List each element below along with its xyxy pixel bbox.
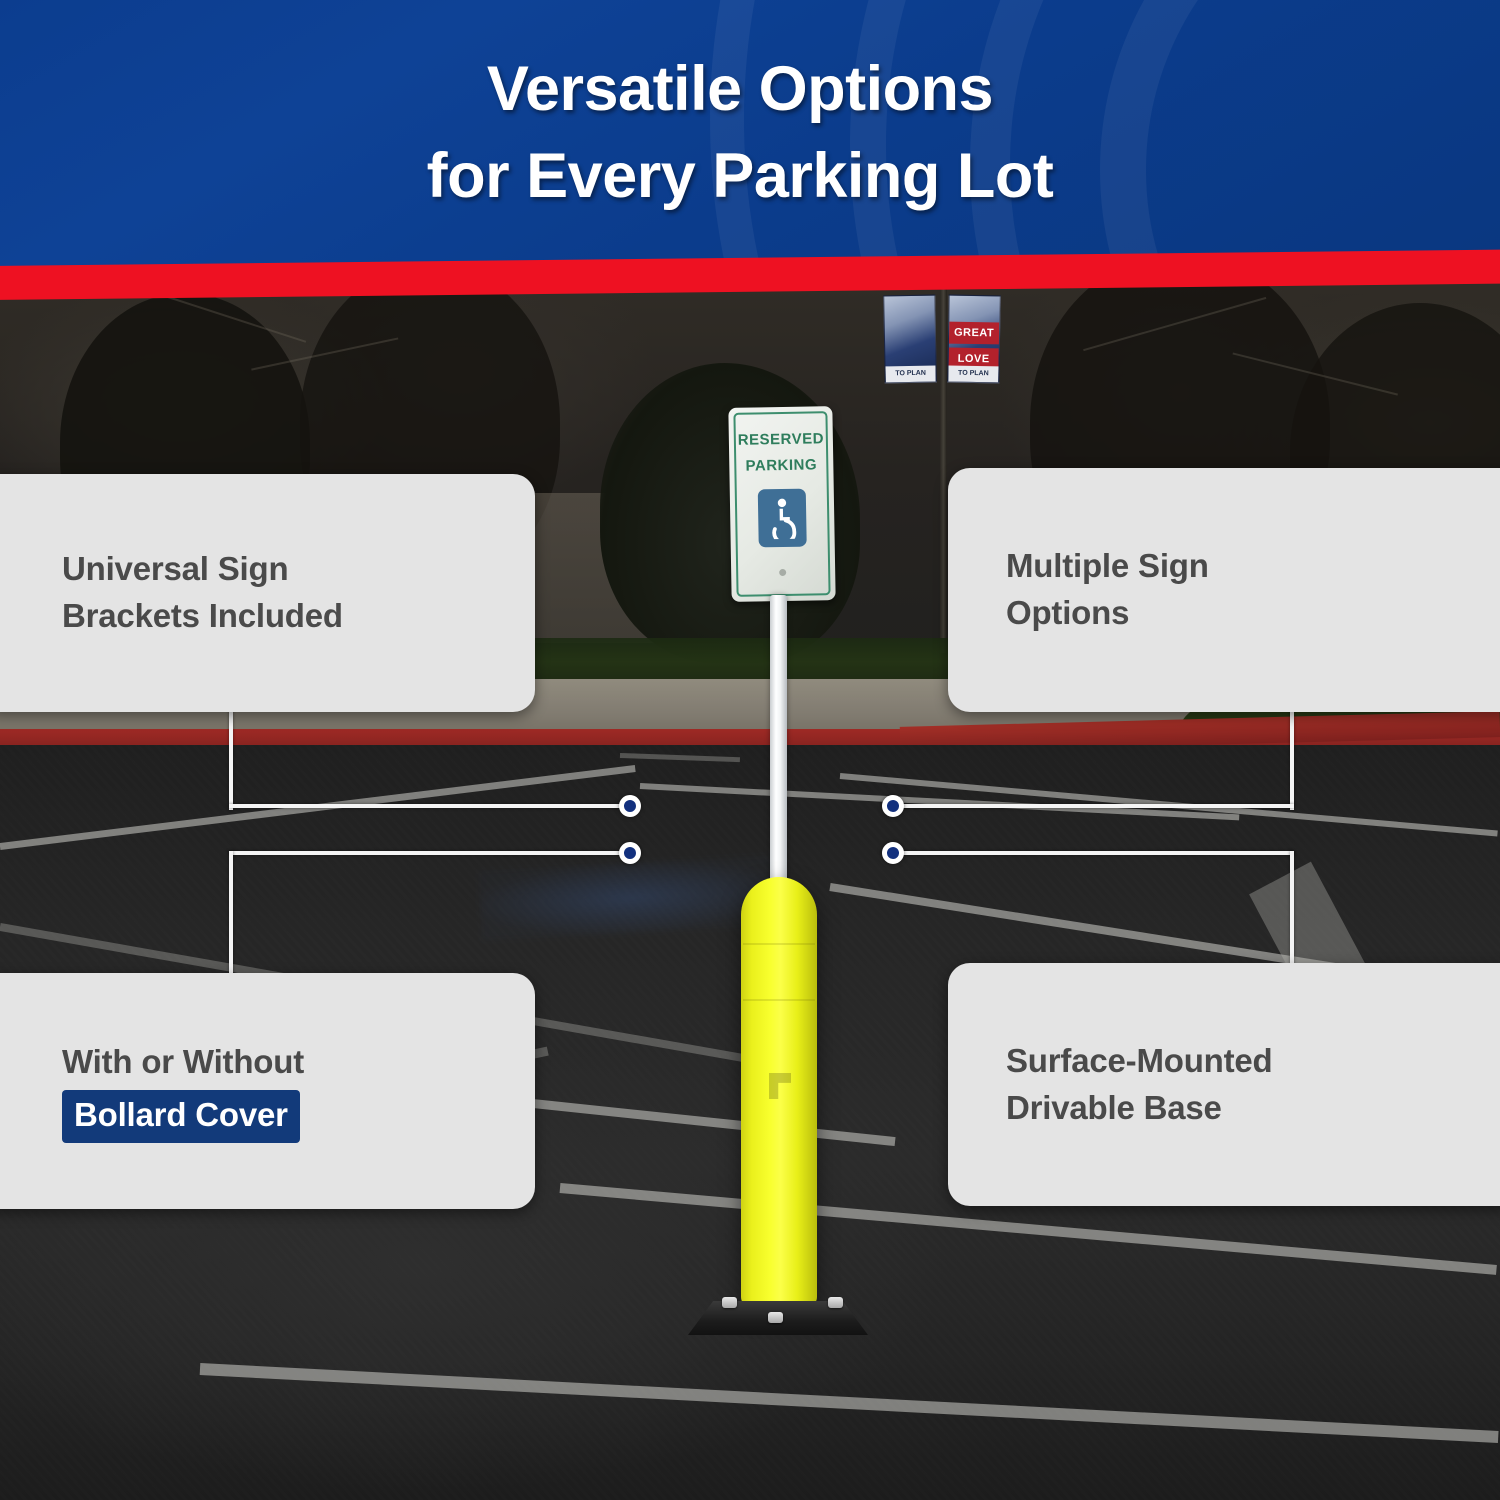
callout-line-2: Options bbox=[1006, 590, 1209, 637]
anchor-bolt bbox=[722, 1297, 737, 1308]
callout-text: Universal Sign Brackets Included bbox=[62, 546, 343, 640]
callout-line-2: Drivable Base bbox=[1006, 1085, 1273, 1132]
anchor-bolt bbox=[828, 1297, 843, 1308]
callout-line-1: Universal Sign bbox=[62, 546, 343, 593]
callout-line-2: Brackets Included bbox=[62, 593, 343, 640]
callout-multiple-sign-options[interactable]: Multiple Sign Options bbox=[948, 468, 1500, 712]
page-title: Versatile Options for Every Parking Lot bbox=[0, 46, 1500, 220]
callout-line-1: Multiple Sign bbox=[1006, 543, 1209, 590]
sign-post bbox=[770, 595, 787, 885]
callout-text: With or Without Bollard Cover bbox=[62, 1039, 304, 1144]
anchor-bolt bbox=[768, 1312, 783, 1323]
status-badge: Bollard Cover bbox=[62, 1090, 300, 1144]
sign-screw bbox=[779, 569, 786, 576]
callout-text: Multiple Sign Options bbox=[1006, 543, 1209, 637]
product-photo: TO PLAN GREAT LOVE TO PLAN RESERVED bbox=[0, 283, 1500, 1500]
reserved-parking-sign: RESERVED PARKING bbox=[728, 406, 835, 602]
page-title-line-2: for Every Parking Lot bbox=[0, 133, 1480, 220]
bollard-seam bbox=[743, 943, 815, 945]
bollard-seam bbox=[743, 999, 815, 1001]
callout-line-1: With or Without bbox=[62, 1039, 304, 1086]
sign-text-line-1: RESERVED bbox=[729, 430, 833, 449]
callout-surface-mounted-drivable-base[interactable]: Surface-Mounted Drivable Base bbox=[948, 963, 1500, 1206]
header-banner: Versatile Options for Every Parking Lot bbox=[0, 0, 1500, 283]
callout-line-1: Surface-Mounted bbox=[1006, 1038, 1273, 1085]
page-title-line-1: Versatile Options bbox=[0, 46, 1480, 133]
callout-universal-sign-brackets[interactable]: Universal Sign Brackets Included bbox=[0, 474, 535, 712]
callout-with-or-without-bollard-cover[interactable]: With or Without Bollard Cover bbox=[0, 973, 535, 1209]
wheelchair-accessible-icon bbox=[758, 489, 807, 548]
bollard-assembly: RESERVED PARKING bbox=[0, 283, 1500, 1500]
sign-text-line-2: PARKING bbox=[729, 456, 833, 475]
callout-text: Surface-Mounted Drivable Base bbox=[1006, 1038, 1273, 1132]
bollard-logo-emboss bbox=[769, 1073, 791, 1099]
infographic-page: Versatile Options for Every Parking Lot … bbox=[0, 0, 1500, 1500]
bollard-cover bbox=[741, 877, 817, 1307]
